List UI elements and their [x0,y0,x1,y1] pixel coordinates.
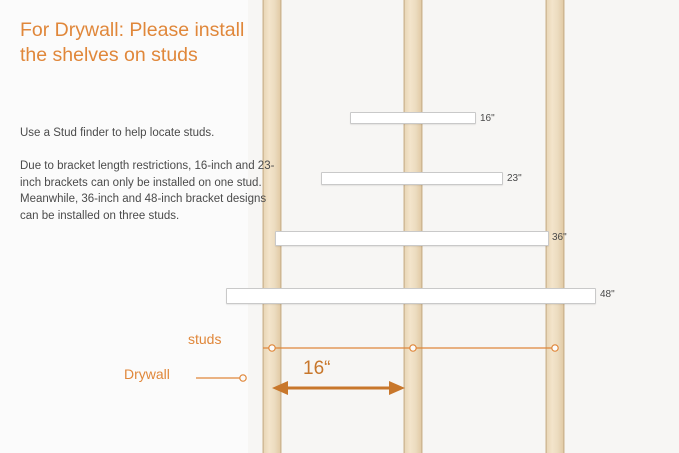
shelf-16 [350,112,476,124]
wall-background [248,0,679,453]
shelf-label-36: 36" [552,233,567,243]
stud-right [546,0,564,453]
shelf-23 [321,172,503,185]
stud-center [404,0,422,453]
studs-annotation-label: studs [188,331,221,347]
paragraph-bracket-restrictions: Due to bracket length restrictions, 16-i… [20,158,275,224]
shelf-36 [275,231,549,246]
stud-spacing-label: 16“ [303,358,330,380]
paragraph-stud-finder: Use a Stud finder to help locate studs. [20,125,275,142]
page-title: For Drywall: Please install the shelves … [20,18,275,68]
shelf-label-23: 23" [507,174,522,184]
drywall-annotation-label: Drywall [124,366,170,382]
diagram-canvas: 16" 23" 36" 48" For Drywall: Please inst… [0,0,679,453]
shelf-label-48: 48" [600,290,615,300]
shelf-label-16: 16" [480,114,495,124]
shelf-48 [226,288,596,304]
